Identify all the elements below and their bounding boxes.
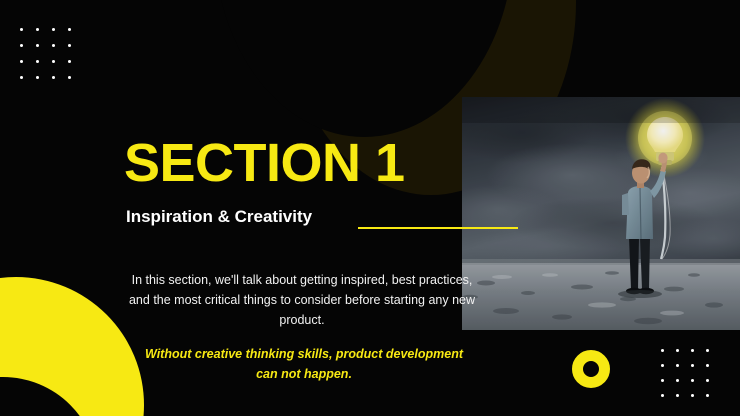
grid-dot	[706, 394, 709, 397]
grid-dot	[676, 364, 679, 367]
grid-dot	[706, 364, 709, 367]
grid-dot	[661, 379, 664, 382]
slide-canvas: SECTION 1 Inspiration & Creativity In th…	[0, 0, 740, 416]
grid-dot	[661, 364, 664, 367]
subtitle-rule	[358, 227, 518, 229]
grid-dot	[661, 349, 664, 352]
grid-dot	[691, 349, 694, 352]
lightbulb-balloon-photo-illustration	[462, 97, 740, 330]
grid-dot	[20, 28, 23, 31]
hero-photo	[462, 97, 740, 330]
grid-dot	[20, 44, 23, 47]
grid-dot	[676, 394, 679, 397]
grid-dot	[36, 76, 39, 79]
grid-dot	[52, 76, 55, 79]
grid-dot	[52, 28, 55, 31]
grid-dot	[68, 76, 71, 79]
grid-dot	[676, 349, 679, 352]
grid-dot	[36, 60, 39, 63]
grid-dot	[68, 28, 71, 31]
grid-dot	[52, 60, 55, 63]
grid-dot	[68, 44, 71, 47]
slide-subtitle: Inspiration & Creativity	[126, 206, 312, 228]
quote-paragraph: Without creative thinking skills, produc…	[136, 344, 472, 384]
dot-grid-bottom-right	[661, 349, 721, 409]
grid-dot	[691, 364, 694, 367]
grid-dot	[52, 44, 55, 47]
grid-dot	[36, 44, 39, 47]
grid-dot	[661, 394, 664, 397]
page-title: SECTION 1	[124, 136, 405, 190]
grid-dot	[20, 60, 23, 63]
grid-dot	[676, 379, 679, 382]
dot-grid-top-left	[20, 28, 84, 92]
grid-dot	[706, 349, 709, 352]
yellow-ring-shape	[572, 350, 610, 388]
grid-dot	[691, 394, 694, 397]
grid-dot	[68, 60, 71, 63]
body-paragraph: In this section, we'll talk about gettin…	[120, 270, 484, 330]
grid-dot	[691, 379, 694, 382]
grid-dot	[20, 76, 23, 79]
grid-dot	[706, 379, 709, 382]
grid-dot	[36, 28, 39, 31]
